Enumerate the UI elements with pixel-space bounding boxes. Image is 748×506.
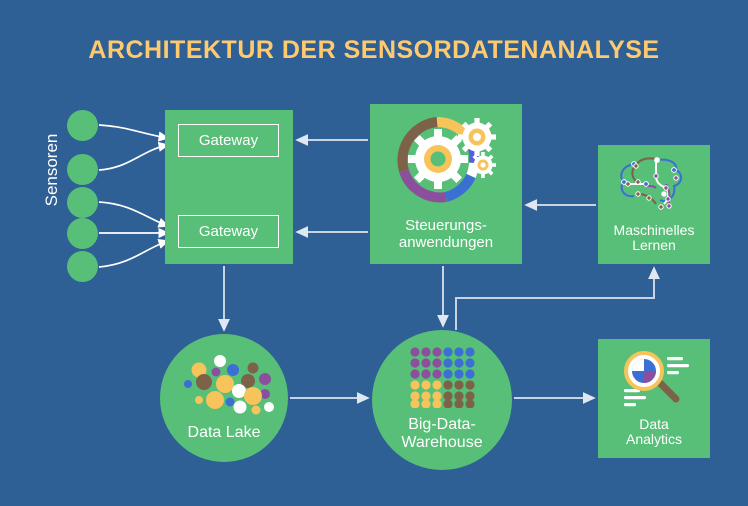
data-analytics-label-line1: Data (598, 417, 710, 433)
diagram-canvas: ARCHITEKTUR DER SENSORDATENANALYSE (0, 0, 748, 506)
node-control-applications[interactable]: Steuerungs- anwendungen (370, 104, 522, 264)
sensor-node-4[interactable] (67, 218, 98, 249)
gateway-1-label: Gateway (199, 132, 258, 149)
node-data-lake[interactable]: Data Lake (160, 334, 288, 462)
node-machine-learning[interactable]: Maschinelles Lernen (598, 145, 710, 264)
machine-learning-label-line1: Maschinelles (598, 223, 710, 239)
node-big-data-warehouse[interactable]: Big-Data- Warehouse (372, 330, 512, 470)
sensors-label: Sensoren (42, 110, 62, 230)
big-data-warehouse-label-line2: Warehouse (372, 434, 512, 452)
gateway-box-1[interactable]: Gateway (178, 124, 279, 157)
magnifier-piechart-icon (598, 347, 710, 411)
gateway-panel: Gateway Gateway (165, 110, 293, 264)
machine-learning-label-line2: Lernen (598, 238, 710, 254)
brain-network-icon (598, 153, 710, 215)
dot-grid-icon (372, 344, 512, 410)
data-analytics-label-line2: Analytics (598, 432, 710, 448)
gateway-box-2[interactable]: Gateway (178, 215, 279, 248)
node-data-analytics[interactable]: Data Analytics (598, 339, 710, 458)
control-applications-label: Steuerungs- anwendungen (370, 218, 522, 252)
sensor-links (99, 125, 168, 267)
sensor-node-2[interactable] (67, 154, 98, 185)
sensor-node-1[interactable] (67, 110, 98, 141)
big-data-warehouse-label: Big-Data- Warehouse (372, 416, 512, 452)
machine-learning-label: Maschinelles Lernen (598, 223, 710, 254)
scattered-dots-icon (160, 350, 288, 420)
data-lake-label-line1: Data Lake (160, 424, 288, 442)
control-applications-label-line2: anwendungen (370, 235, 522, 252)
sensor-node-5[interactable] (67, 251, 98, 282)
data-lake-label: Data Lake (160, 424, 288, 442)
gateway-2-label: Gateway (199, 223, 258, 240)
sensor-node-3[interactable] (67, 187, 98, 218)
data-analytics-label: Data Analytics (598, 417, 710, 448)
gears-ring-icon (370, 116, 522, 208)
big-data-warehouse-label-line1: Big-Data- (372, 416, 512, 434)
control-applications-label-line1: Steuerungs- (370, 218, 522, 235)
